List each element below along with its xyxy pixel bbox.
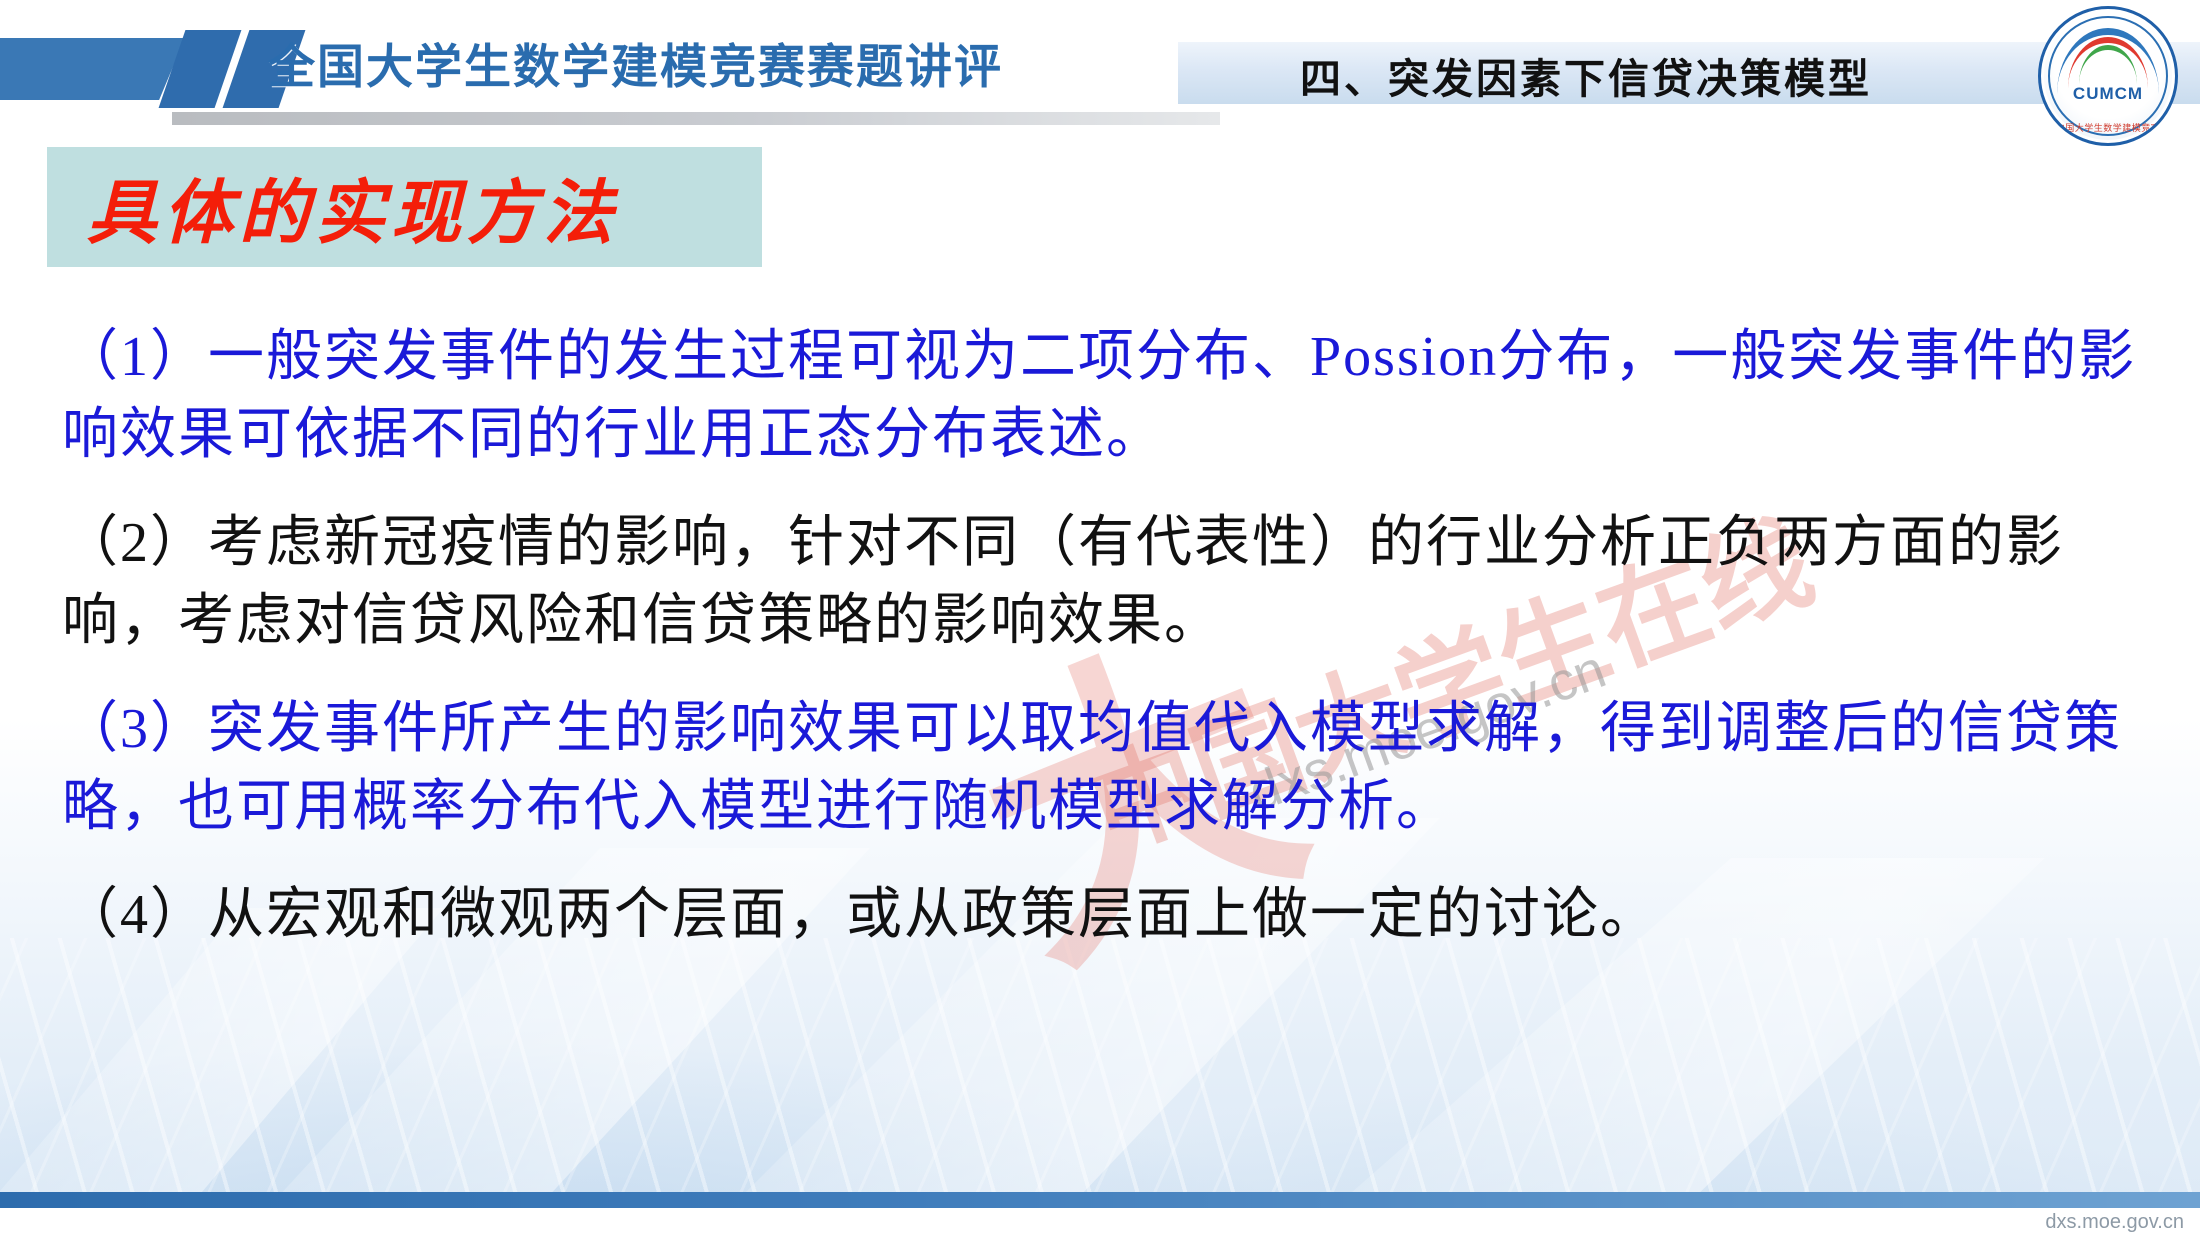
paragraph-item-4: （4）从宏观和微观两个层面，或从政策层面上做一定的讨论。 [62,876,2152,954]
slide-title-box: 具体的实现方法 [47,147,762,267]
header-blue-block [0,38,185,100]
cumcm-logo: CUMCM 中国大学生数学建模竞赛 [2038,6,2178,146]
header-divider [172,112,1220,125]
footer-strip [0,1208,2200,1238]
paragraph-item-3: （3）突发事件所产生的影响效果可以取均值代入模型求解，得到调整后的信贷策略，也可… [62,690,2152,846]
slide-body: （1）一般突发事件的发生过程可视为二项分布、Possion分布，一般突发事件的影… [62,318,2152,984]
paragraph-item-1: （1）一般突发事件的发生过程可视为二项分布、Possion分布，一般突发事件的影… [62,318,2152,474]
logo-acronym: CUMCM [2041,84,2175,104]
header-title: 全国大学生数学建模竞赛赛题讲评 [268,28,1003,97]
paragraph-item-2: （2）考虑新冠疫情的影响，针对不同（有代表性）的行业分析正负两方面的影响，考虑对… [62,504,2152,660]
header-section-label: 四、突发因素下信贷决策模型 [1300,45,1872,105]
slide-canvas: 全国大学生数学建模竞赛赛题讲评 四、突发因素下信贷决策模型 CUMCM 中国大学… [0,0,2200,1238]
footer-bar [0,1192,2200,1208]
logo-chinese-name: 中国大学生数学建模竞赛 [2041,121,2175,134]
slide-title: 具体的实现方法 [87,157,619,258]
footer-url: dxs.moe.gov.cn [2045,1211,2184,1234]
